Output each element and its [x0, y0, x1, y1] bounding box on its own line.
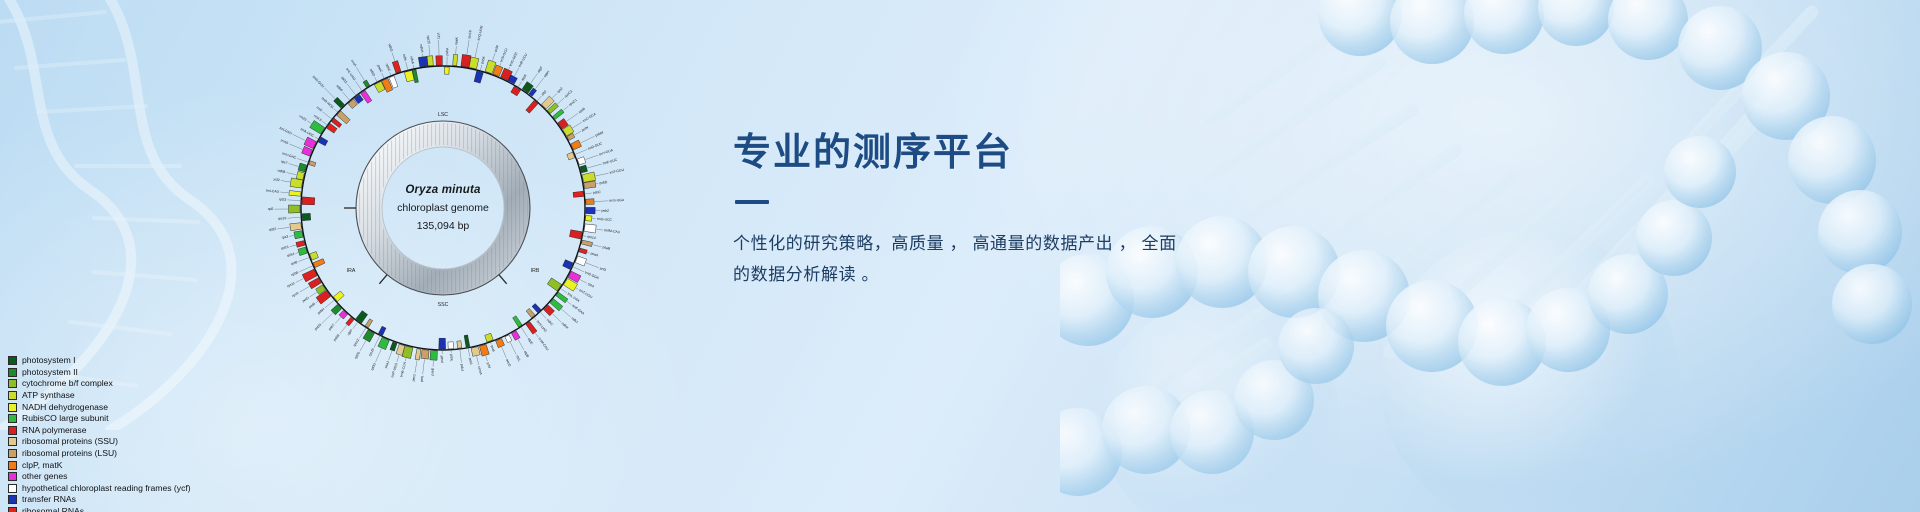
gene-feature-box: [457, 341, 462, 349]
gene-label: ndhD: [369, 68, 377, 78]
gene-feature-box: [427, 56, 433, 66]
gene-label: ndhC: [546, 318, 555, 327]
gene-label: psbI: [494, 45, 500, 52]
gene-label: ndhK: [561, 321, 570, 330]
gene-label: trnV-GAC: [282, 151, 298, 160]
gene-leader-line: [595, 201, 609, 202]
gene-leader-line: [356, 67, 364, 80]
legend-item-label: photosystem I: [22, 355, 76, 366]
gene-leader-line: [316, 301, 318, 303]
gene-label: ndhF: [335, 84, 343, 92]
gene-label: rpl22: [268, 227, 276, 232]
gene-label: ycf3: [599, 266, 606, 272]
legend-color-swatch: [8, 368, 17, 377]
gene-label: psaA: [590, 251, 599, 257]
gene-leader-line: [587, 252, 589, 253]
legend-color-swatch: [8, 391, 17, 400]
gene-leader-line: [405, 358, 406, 361]
banner-subcopy: 个性化的研究策略，高质量 ， 高通量的数据产出 ， 全面 的数据分析解读 。: [733, 228, 1293, 291]
legend-item-label: other genes: [22, 471, 67, 482]
legend-item-label: RNA polymerase: [22, 425, 86, 436]
legend-color-swatch: [8, 403, 17, 412]
gene-label: psbA: [445, 47, 449, 56]
gene-label: rps15: [426, 35, 431, 44]
gene-leader-line: [289, 164, 299, 167]
gene-feature-box: [444, 67, 449, 74]
gene-label: petA: [468, 357, 473, 365]
legend-item: RubisCO large subunit: [8, 413, 238, 425]
gene-label: psbN: [314, 322, 323, 331]
gene-leader-line: [375, 349, 381, 363]
gene-label: trnY-GUA: [599, 148, 615, 157]
gene-leader-line: [415, 360, 417, 373]
gene-leader-line: [310, 292, 317, 297]
gene-label: psbJ: [460, 364, 465, 372]
subcopy-line-1: 个性化的研究策略，高质量 ， 高通量的数据产出 ， 全面: [733, 234, 1177, 253]
gene-label: rpl23: [279, 197, 287, 201]
gene-label: trnT-UGU: [578, 288, 593, 299]
gene-feature-box: [415, 349, 421, 360]
legend-item-label: NADH dehydrogenase: [22, 402, 108, 413]
gene-label: accD: [505, 358, 512, 367]
gene-leader-line: [343, 92, 351, 101]
title-underline-rule: [735, 200, 769, 204]
gene-feature-box: [474, 71, 483, 83]
gene-feature-box: [346, 317, 354, 326]
legend-color-swatch: [8, 437, 17, 446]
gene-label: psbC: [593, 190, 602, 195]
gene-leader-line: [502, 347, 507, 358]
gene-leader-line: [561, 309, 570, 317]
gene-leader-line: [574, 150, 587, 155]
gene-label: trnfM-CAU: [604, 228, 621, 234]
gene-leader-line: [468, 347, 470, 356]
gene-label: ndhJ: [571, 316, 579, 324]
gene-leader-line: [353, 321, 359, 328]
gene-label: rps16: [467, 30, 472, 39]
legend-color-swatch: [8, 495, 17, 504]
gene-feature-box: [439, 338, 446, 349]
gene-feature-box: [378, 326, 386, 335]
gene-feature-box: [573, 191, 584, 197]
gene-leader-line: [576, 288, 578, 289]
gene-leader-line: [296, 279, 304, 283]
gene-feature-box: [296, 171, 304, 180]
gene-label: trnW-CCA: [399, 361, 407, 378]
gene-label: ycf2: [273, 177, 280, 182]
legend-item: ribosomal RNAs: [8, 506, 238, 512]
gene-leader-line: [290, 245, 296, 247]
legend-color-swatch: [8, 472, 17, 481]
gene-feature-box: [436, 56, 443, 65]
gene-leader-line: [360, 341, 366, 352]
gene-label: ndhG: [387, 43, 393, 52]
sequencing-platform-banner: LSC IRA SSC IRB psbAmatKrps16trnQ-UUGpsb…: [0, 0, 1920, 512]
gene-leader-line: [587, 164, 602, 168]
gene-label: trnC-GCA: [582, 111, 597, 123]
gene-leader-line: [567, 301, 571, 304]
region-label-irb: IRB: [531, 268, 540, 274]
gene-label: psbD: [599, 180, 608, 185]
gene-leader-line: [300, 286, 310, 292]
gene-label: rrn5: [316, 105, 323, 112]
gene-feature-box: [302, 197, 315, 205]
gene-feature-box: [313, 259, 325, 268]
gene-feature-box: [526, 322, 537, 334]
gene-label: psaJ: [384, 360, 390, 368]
gene-feature-box: [513, 316, 522, 327]
gene-leader-line: [307, 121, 311, 124]
gene-feature-box: [361, 90, 372, 103]
legend-item: ATP synthase: [8, 390, 238, 402]
gene-feature-box: [581, 240, 592, 246]
gene-leader-line: [509, 67, 510, 69]
gene-leader-line: [535, 78, 543, 89]
legend-item-label: ribosomal proteins (LSU): [22, 448, 117, 459]
gene-feature-box: [585, 216, 592, 222]
gene-feature-box: [302, 213, 311, 220]
legend-color-swatch: [8, 356, 17, 365]
gene-feature-box: [569, 230, 582, 239]
gene-label: petG: [411, 373, 416, 381]
legend-item: cytochrome b/f complex: [8, 378, 238, 390]
gene-feature-box: [553, 109, 564, 119]
gene-leader-line: [581, 136, 595, 143]
gene-label: psaI: [490, 345, 496, 352]
gene-leader-line: [298, 257, 310, 261]
gene-label: ycf4: [486, 362, 492, 369]
gene-label: ycf1: [437, 33, 441, 39]
legend-item-label: ribosomal RNAs: [22, 506, 84, 512]
gene-leader-line: [536, 96, 541, 102]
gene-feature-box: [464, 335, 470, 347]
gene-leader-line: [287, 200, 301, 201]
gene-leader-line: [297, 158, 309, 162]
gene-label: trnL-UAA: [567, 292, 581, 304]
legend-item: NADH dehydrogenase: [8, 401, 238, 413]
gene-leader-line: [334, 109, 338, 113]
gene-feature-box: [526, 100, 538, 113]
gene-leader-line: [429, 45, 430, 55]
legend-color-swatch: [8, 379, 17, 388]
legend-item: other genes: [8, 471, 238, 483]
gene-label: rps7: [280, 159, 288, 165]
gene-leader-line: [585, 155, 598, 159]
legend-item-label: clpP, matK: [22, 460, 62, 471]
gene-leader-line: [557, 98, 564, 104]
gene-leader-line: [315, 137, 319, 139]
gene-label: rrn23: [298, 114, 307, 122]
gene-leader-line: [322, 121, 328, 125]
gene-leader-line: [287, 173, 297, 175]
gene-leader-line: [322, 313, 333, 323]
gene-label: trnT-GGU: [609, 168, 625, 175]
legend-item-label: RubisCO large subunit: [22, 413, 108, 424]
gene-label: trnG-UCC: [597, 217, 613, 222]
gene-leader-line: [540, 311, 547, 318]
gene-label: psbH: [317, 307, 326, 316]
genome-legend: photosystem Iphotosystem IIcytochrome b/…: [8, 355, 238, 512]
gene-leader-line: [423, 359, 425, 374]
gene-leader-line: [280, 192, 288, 193]
gene-leader-line: [480, 65, 482, 71]
gene-label: ndhE: [385, 63, 392, 73]
gene-label: rps14: [587, 235, 596, 241]
gene-label: trnN-GUU: [312, 75, 326, 89]
gene-leader-line: [580, 280, 587, 284]
gene-leader-line: [289, 144, 302, 150]
gene-feature-box: [575, 256, 586, 266]
gene-leader-line: [500, 63, 501, 65]
gene-label: rpoC1: [568, 98, 578, 107]
gene-feature-box: [289, 190, 301, 196]
chloroplast-genome-map: LSC IRA SSC IRB psbAmatKrps16trnQ-UUGpsb…: [243, 8, 643, 408]
gene-label: rps12: [352, 338, 360, 347]
background-blob: [1100, 300, 1340, 512]
gene-leader-line: [552, 93, 557, 98]
gene-feature-box: [294, 231, 303, 239]
gene-leader-line: [486, 356, 488, 361]
legend-item: ribosomal proteins (LSU): [8, 448, 238, 460]
legend-item: ribosomal proteins (SSU): [8, 436, 238, 448]
gene-label: rps3: [281, 234, 288, 239]
gene-feature-box: [579, 248, 587, 254]
gene-label: trnQ-UUG: [477, 25, 484, 41]
gene-leader-line: [392, 53, 395, 61]
gene-label: ndhI: [402, 54, 408, 61]
legend-item-label: hypothetical chloroplast reading frames …: [22, 483, 191, 494]
gene-leader-line: [277, 227, 289, 229]
gene-feature-box: [392, 61, 401, 73]
gene-label: psbZ: [602, 209, 610, 213]
gene-label: ccsA: [350, 59, 358, 68]
gene-feature-box: [471, 347, 480, 357]
gene-label: rpoA: [291, 291, 300, 298]
gene-label: rpl32: [340, 76, 348, 85]
gene-leader-line: [514, 68, 518, 76]
gene-label: rpl2: [268, 207, 274, 211]
gene-leader-line: [595, 173, 608, 176]
gene-label: rbcL: [515, 355, 522, 363]
gene-leader-line: [593, 245, 602, 247]
gene-label: trnP-UGG: [390, 362, 398, 378]
gene-leader-line: [397, 355, 399, 362]
gene-leader-line: [355, 81, 362, 91]
gene-label: psaB: [602, 245, 611, 251]
gene-leader-line: [574, 131, 581, 135]
gene-label: psbK: [480, 55, 486, 64]
gene-label: psbM: [595, 130, 604, 137]
legend-item: clpP, matK: [8, 459, 238, 471]
gene-label: trnM-CAU: [537, 337, 549, 352]
gene-label: trnD-GUC: [587, 141, 603, 151]
gene-label: rps19: [278, 216, 287, 221]
legend-item-label: transfer RNAs: [22, 494, 76, 505]
gene-label: trnI-CAU: [266, 188, 280, 193]
gene-leader-line: [287, 217, 301, 218]
legend-color-swatch: [8, 449, 17, 458]
gene-leader-line: [584, 193, 592, 194]
gene-leader-line: [493, 53, 496, 61]
gene-label: rpl14: [286, 252, 294, 258]
gene-label: psbE: [430, 367, 435, 376]
gene-label: rpl36: [291, 270, 300, 277]
gene-label: ndhB: [277, 168, 286, 174]
legend-color-swatch: [8, 484, 17, 493]
gene-leader-line: [521, 326, 528, 337]
subcopy-line-2: 的数据分析解读 。: [733, 265, 879, 284]
gene-feature-box: [296, 241, 305, 248]
gene-label: petD: [302, 296, 311, 304]
gene-leader-line: [518, 340, 524, 351]
gene-leader-line: [510, 342, 516, 354]
gene-feature-box: [290, 223, 302, 231]
gene-label: trnR-ACG: [321, 96, 335, 109]
legend-item-label: cytochrome b/f complex: [22, 378, 113, 389]
gene-feature-box: [448, 342, 454, 349]
gene-leader-line: [295, 253, 298, 254]
gene-feature-box: [582, 172, 596, 182]
gene-leader-line: [382, 73, 385, 79]
gene-feature-box: [580, 165, 588, 173]
gene-label: rpl33: [370, 362, 377, 371]
gene-leader-line: [467, 40, 469, 54]
gene-label: petN: [581, 125, 590, 132]
gene-leader-line: [335, 317, 341, 323]
gene-feature-box: [421, 349, 429, 359]
gene-leader-line: [389, 351, 392, 360]
gene-leader-line: [534, 317, 537, 320]
gene-label: psbF: [440, 355, 444, 363]
gene-label: atpH: [543, 70, 551, 79]
gene-label: clpP: [346, 328, 354, 336]
gene-leader-line: [324, 88, 335, 99]
gene-feature-box: [334, 97, 345, 108]
gene-feature-box: [479, 344, 489, 356]
gene-label: rps8: [290, 260, 298, 266]
gene-leader-line: [477, 356, 479, 365]
gene-feature-box: [298, 247, 307, 256]
gene-leader-line: [347, 84, 356, 96]
gene-label: trnI-GAU: [279, 126, 293, 136]
gene-label: atpE: [527, 337, 535, 346]
gene-feature-box: [418, 56, 427, 67]
gene-leader-line: [572, 122, 582, 128]
gene-leader-line: [560, 288, 567, 293]
gene-label: rrn16: [280, 138, 289, 145]
gene-leader-line: [293, 134, 305, 140]
gene-leader-line: [535, 333, 538, 337]
gene-label: rpoC2: [564, 89, 574, 98]
gene-label: trnV-UAC: [536, 320, 549, 334]
gene-feature-ring: [288, 54, 596, 360]
gene-feature-box: [469, 57, 479, 69]
region-label-ira: IRA: [347, 268, 356, 274]
gene-leader-line: [456, 46, 457, 54]
gene-leader-line: [322, 112, 332, 120]
gene-label: ndhA: [409, 56, 415, 65]
gene-leader-line: [375, 77, 378, 82]
gene-leader-line: [531, 73, 538, 83]
gene-label: rps2: [556, 86, 564, 94]
legend-item: photosystem I: [8, 355, 238, 367]
gene-label: psaC: [376, 64, 383, 73]
legend-color-swatch: [8, 461, 17, 470]
legend-item: photosystem II: [8, 367, 238, 379]
gene-label: trnS-UGA: [609, 198, 625, 203]
gene-label: petL: [420, 375, 425, 382]
gene-feature-box: [430, 350, 438, 360]
gene-feature-box: [526, 308, 535, 317]
gene-leader-line: [586, 263, 599, 268]
gene-label: rpoB: [578, 106, 587, 114]
gene-label: atpB: [523, 350, 530, 359]
gene-label: psbT: [328, 323, 336, 331]
gene-label: trnF-GAA: [571, 304, 585, 316]
gene-label: psbB: [333, 333, 341, 342]
gene-label: matK: [454, 36, 459, 45]
gene-leader-line: [325, 299, 335, 307]
gene-feature-box: [584, 224, 596, 233]
region-label-lsc: LSC: [438, 112, 448, 118]
gene-feature-box: [390, 342, 397, 351]
gene-leader-line: [289, 236, 294, 237]
legend-item: RNA polymerase: [8, 425, 238, 437]
gene-label: petB: [308, 301, 317, 309]
gene-leader-line: [475, 42, 478, 58]
gene-feature-box: [365, 319, 372, 328]
gene-label: psbL: [449, 354, 453, 362]
gene-label: trnE-UUC: [602, 158, 618, 166]
gene-label: atpF: [536, 66, 543, 74]
gene-label: atpI: [541, 89, 548, 96]
banner-copy: 专业的测序平台 个性化的研究策略，高质量 ， 高通量的数据产出 ， 全面 的数据…: [733, 134, 1453, 308]
legend-color-swatch: [8, 507, 17, 512]
gene-leader-line: [553, 314, 562, 322]
gene-leader-line: [518, 82, 522, 88]
gene-leader-line: [460, 349, 462, 363]
legend-color-swatch: [8, 426, 17, 435]
gene-feature-box: [556, 292, 568, 303]
gene-leader-line: [567, 113, 578, 121]
gene-label-ring: psbAmatKrps16trnQ-UUGpsbKpsbItrnS-GCUtrn…: [266, 25, 625, 382]
legend-item-label: photosystem II: [22, 367, 78, 378]
legend-item-label: ribosomal proteins (SSU): [22, 436, 118, 447]
gene-label: atpA: [520, 73, 527, 82]
gene-leader-line: [572, 266, 584, 271]
gene-leader-line: [563, 106, 568, 110]
gene-feature-box: [288, 205, 300, 213]
gene-label: cemA: [477, 366, 483, 376]
gene-feature-box: [586, 207, 595, 214]
gene-feature-box: [309, 161, 316, 167]
gene-label: ndhH: [419, 44, 424, 53]
legend-item: transfer RNAs: [8, 494, 238, 506]
page-title: 专业的测序平台: [733, 134, 1453, 172]
gene-label: trnS-GCU: [499, 47, 508, 63]
gene-leader-line: [340, 325, 347, 334]
legend-color-swatch: [8, 414, 17, 423]
gene-feature-box: [453, 54, 458, 65]
gene-label: rps11: [286, 281, 295, 288]
legend-item: hypothetical chloroplast reading frames …: [8, 483, 238, 495]
gene-leader-line: [281, 180, 290, 182]
gene-label: rpl20: [354, 351, 361, 360]
gene-leader-line: [596, 229, 603, 230]
gene-label: trnS-GGA: [584, 270, 600, 280]
gene-label: trnR-UCU: [518, 52, 529, 67]
region-label-ssc: SSC: [438, 302, 449, 308]
